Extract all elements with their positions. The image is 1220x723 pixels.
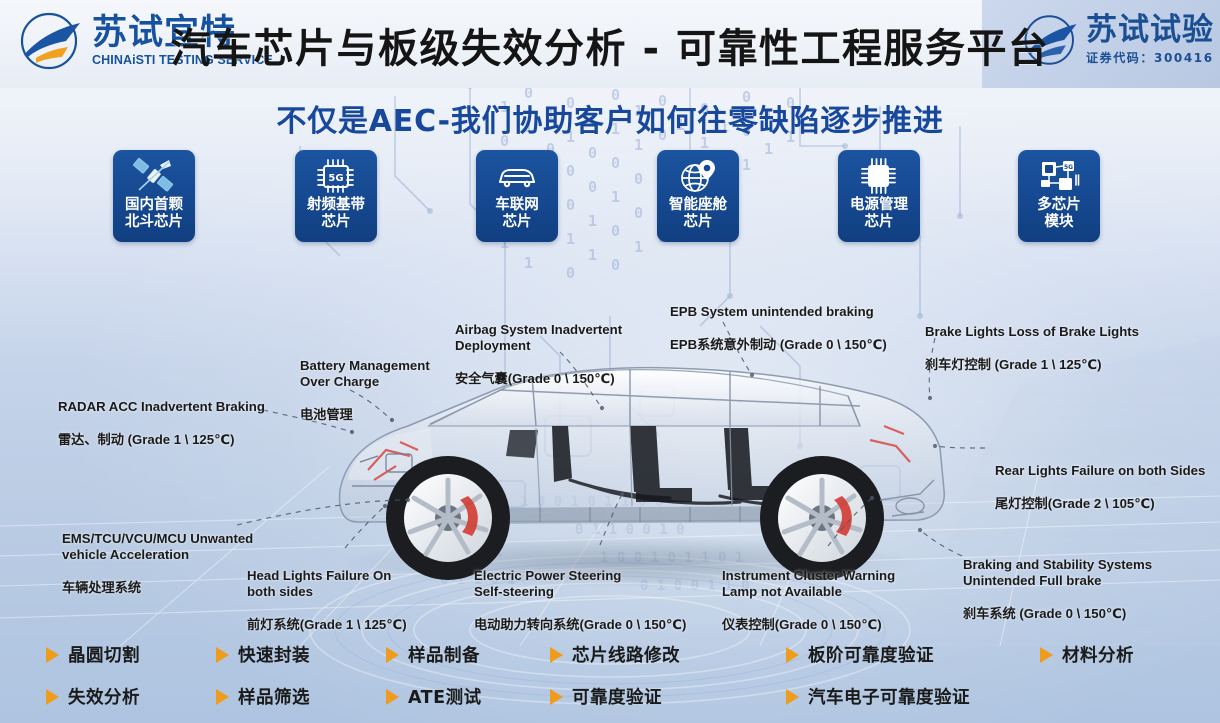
svg-text:5G: 5G: [1064, 164, 1073, 171]
triangle-bullet-icon: [386, 647, 399, 663]
triangle-bullet-icon: [386, 689, 399, 705]
service-list: 晶圆切割 快速封装 样品制备 芯片线路修改 板阶可靠度验证 材料分析 失效分析: [0, 631, 1220, 723]
annotation-radar-acc: RADAR ACC Inadvertent Braking 雷达、制动 (Gra…: [58, 382, 268, 465]
service-label: 快速封装: [238, 642, 310, 667]
page-subtitle: 不仅是AEC-我们协助客户如何往零缺陷逐步推进: [0, 96, 1220, 140]
annotation-text-cn: 刹车系统 (Grade 0 \ 150℃): [963, 606, 1178, 623]
chip-card-label: 智能座舱 芯片: [669, 197, 727, 231]
svg-text:0: 0: [566, 264, 575, 282]
service-item-board-level-reliability[interactable]: 板阶可靠度验证: [786, 642, 934, 667]
chip-5g-icon: 5G: [315, 157, 357, 195]
triangle-bullet-icon: [550, 647, 563, 663]
service-item-ate-test[interactable]: ATE测试: [386, 684, 482, 709]
annotation-title-en: Braking and Stability Systems Unintended…: [963, 557, 1178, 590]
svg-text:0 1 1 0 0 1 0: 0 1 1 0 0 1 0: [575, 522, 685, 538]
chip-card-label: 电源管理 芯片: [850, 197, 908, 231]
triangle-bullet-icon: [786, 647, 799, 663]
annotation-text-cn: 电池管理: [300, 407, 450, 424]
annotation-epb-system: EPB System unintended braking EPB系统意外制动 …: [670, 287, 890, 370]
service-item-sample-screening[interactable]: 样品筛选: [216, 684, 310, 709]
service-label: 可靠度验证: [572, 684, 662, 709]
annotation-rear-lights: Rear Lights Failure on both Sides 尾灯控制(G…: [995, 446, 1215, 529]
annotation-text-cn: 刹车灯控制 (Grade 1 \ 125℃): [925, 357, 1140, 374]
chip-card-iov[interactable]: 车联网 芯片: [476, 150, 558, 242]
service-item-chip-circuit-edit[interactable]: 芯片线路修改: [550, 642, 680, 667]
triangle-bullet-icon: [550, 689, 563, 705]
service-label: 板阶可靠度验证: [808, 642, 934, 667]
chip-card-label: 车联网 芯片: [495, 197, 539, 231]
chip-card-label: 射频基带 芯片: [307, 197, 365, 231]
triangle-bullet-icon: [46, 647, 59, 663]
annotation-text-cn: 安全气囊(Grade 0 \ 150℃): [455, 371, 640, 388]
service-item-automotive-electronics-reliability[interactable]: 汽车电子可靠度验证: [786, 684, 970, 709]
satellite-icon: [133, 157, 175, 195]
annotation-text-cn: 车辆处理系统: [62, 580, 262, 597]
globe-pin-icon: [677, 157, 719, 195]
service-label: 汽车电子可靠度验证: [808, 684, 970, 709]
annotation-title-en: RADAR ACC Inadvertent Braking: [58, 399, 268, 416]
svg-text:1: 1: [588, 246, 597, 264]
annotation-title-en: Brake Lights Loss of Brake Lights: [925, 324, 1140, 341]
service-label: 样品筛选: [238, 684, 310, 709]
triangle-bullet-icon: [216, 647, 229, 663]
annotation-title-en: EPB System unintended braking: [670, 304, 890, 321]
chip-card-smart-cockpit[interactable]: 智能座舱 芯片: [657, 150, 739, 242]
annotation-title-en: Battery Management Over Charge: [300, 358, 450, 391]
service-label: 芯片线路修改: [572, 642, 680, 667]
car-icon: [496, 157, 538, 195]
service-label: 晶圆切割: [68, 642, 140, 667]
service-item-sample-prep[interactable]: 样品制备: [386, 642, 480, 667]
service-item-wafer-dicing[interactable]: 晶圆切割: [46, 642, 140, 667]
svg-text:1 0 0 1 0 1 1 0 0: 1 0 0 1 0 1 1 0 0: [520, 494, 663, 510]
annotation-braking-stability: Braking and Stability Systems Unintended…: [963, 540, 1178, 639]
annotation-text-cn: 雷达、制动 (Grade 1 \ 125℃): [58, 432, 268, 449]
svg-text:5G: 5G: [328, 173, 343, 184]
service-item-reliability-verification[interactable]: 可靠度验证: [550, 684, 662, 709]
triangle-bullet-icon: [1040, 647, 1053, 663]
service-item-failure-analysis[interactable]: 失效分析: [46, 684, 140, 709]
service-item-material-analysis[interactable]: 材料分析: [1040, 642, 1134, 667]
chip-card-rf-baseband[interactable]: 5G 射频基带 芯片: [295, 150, 377, 242]
annotation-title-en: Head Lights Failure On both sides: [247, 568, 412, 601]
chip-card-label: 多芯片 模块: [1037, 197, 1081, 231]
annotation-airbag-system: Airbag System Inadvertent Deployment 安全气…: [455, 305, 640, 404]
service-label: 材料分析: [1062, 642, 1134, 667]
poster-root: 010 010 100 11 010 100 110 01 001 01 101…: [0, 0, 1220, 723]
chip-card-power-management[interactable]: 电源管理 芯片: [838, 150, 920, 242]
triangle-bullet-icon: [216, 689, 229, 705]
annotation-title-en: Instrument Cluster Warning Lamp not Avai…: [722, 568, 902, 601]
triangle-bullet-icon: [786, 689, 799, 705]
chip-card-row: 国内首颗 北斗芯片 5G: [0, 150, 1220, 246]
service-label: ATE测试: [408, 684, 482, 709]
page-title: 汽车芯片与板级失效分析 - 可靠性工程服务平台: [0, 16, 1220, 74]
service-item-fast-packaging[interactable]: 快速封装: [216, 642, 310, 667]
chip-card-label: 国内首颗 北斗芯片: [125, 197, 183, 231]
annotation-title-en: Electric Power Steering Self-steering: [474, 568, 689, 601]
service-label: 失效分析: [68, 684, 140, 709]
annotation-title-en: Rear Lights Failure on both Sides: [995, 463, 1215, 480]
annotation-brake-lights: Brake Lights Loss of Brake Lights 刹车灯控制 …: [925, 307, 1140, 390]
annotation-text-cn: EPB系统意外制动 (Grade 0 \ 150℃): [670, 337, 890, 354]
triangle-bullet-icon: [46, 689, 59, 705]
svg-text:1: 1: [524, 254, 533, 272]
annotation-battery-management: Battery Management Over Charge 电池管理: [300, 341, 450, 440]
service-label: 样品制备: [408, 642, 480, 667]
svg-text:0: 0: [611, 256, 620, 274]
annotation-title-en: Airbag System Inadvertent Deployment: [455, 322, 640, 355]
annotation-ems-tcu-vcu-mcu: EMS/TCU/VCU/MCU Unwanted vehicle Acceler…: [62, 514, 262, 613]
annotation-title-en: EMS/TCU/VCU/MCU Unwanted vehicle Acceler…: [62, 531, 262, 564]
chip-card-multi-chip-module[interactable]: 5G 多芯片 模块: [1018, 150, 1100, 242]
multi-chip-module-icon: 5G: [1038, 157, 1080, 195]
chip-card-beidou[interactable]: 国内首颗 北斗芯片: [113, 150, 195, 242]
annotation-text-cn: 尾灯控制(Grade 2 \ 105℃): [995, 496, 1215, 513]
chip-icon: [858, 157, 900, 195]
